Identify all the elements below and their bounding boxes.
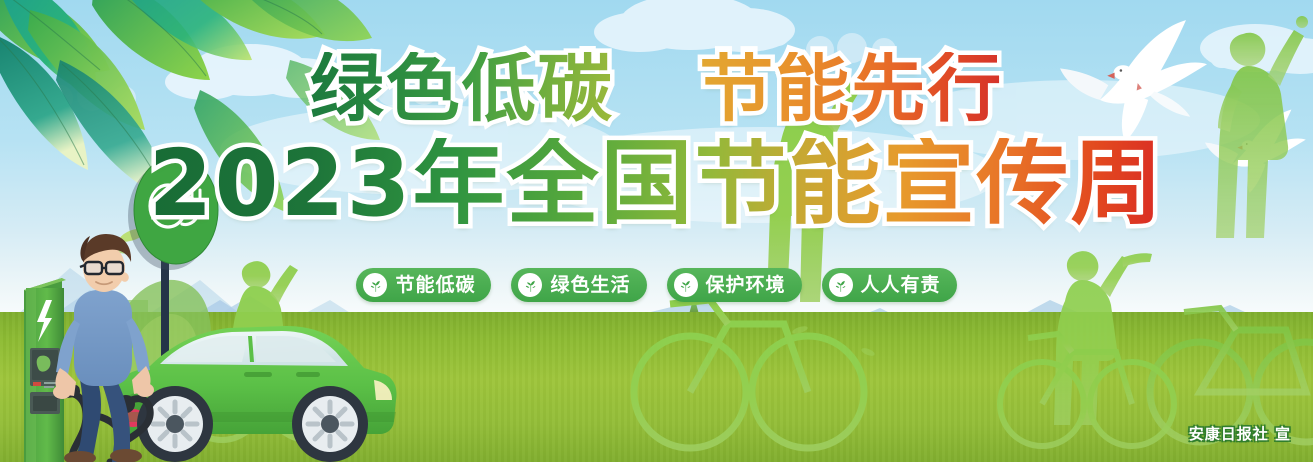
headline-line-1-warm-wrap: 节能先行 节能先行 [699,52,1003,126]
headline-line-2: 2023年全国节能宣传周 2023年全国节能宣传周 [148,138,1164,230]
headline-line-1-green: 绿色低碳 [310,52,614,126]
headline-line-1: 绿色低碳 绿色低碳 节能先行 节能先行 [310,52,1004,126]
grass-field [0,312,1313,462]
sprout-icon [363,273,387,297]
cloud-group-center [594,0,795,52]
falling-leaf-2 [107,240,129,256]
badge-baohu-huanjing[interactable]: 保护环境 [667,268,802,302]
badge-label: 人人有责 [861,276,941,295]
badge-label: 节能低碳 [395,276,475,295]
badge-label: 绿色生活 [550,276,630,295]
sprout-icon [674,273,698,297]
energy-saving-week-poster: 绿色低碳 绿色低碳 节能先行 节能先行 2023年全国节能宣传周 2023年全国… [0,0,1313,462]
headline-line-2-wrap: 2023年全国节能宣传周 2023年全国节能宣传周 [148,138,1164,230]
headline-line-1-warm: 节能先行 [699,52,1003,126]
headline-line-2-text: 2023年全国节能宣传周 [148,138,1164,230]
sprout-icon [829,273,853,297]
sprout-icon [518,273,542,297]
badge-label: 保护环境 [706,276,786,295]
badge-lvse-shenghuo[interactable]: 绿色生活 [511,268,646,302]
badge-renren-youze[interactable]: 人人有责 [822,268,957,302]
slogan-badges: 节能低碳 绿色生活 [0,268,1313,302]
headline-line-1-green-wrap: 绿色低碳 绿色低碳 [310,52,614,126]
badge-jieneng-ditan[interactable]: 节能低碳 [356,268,491,302]
headline-block: 绿色低碳 绿色低碳 节能先行 节能先行 2023年全国节能宣传周 2023年全国… [0,52,1313,230]
publisher-credit: 安康日报社 宣 [1189,423,1291,444]
